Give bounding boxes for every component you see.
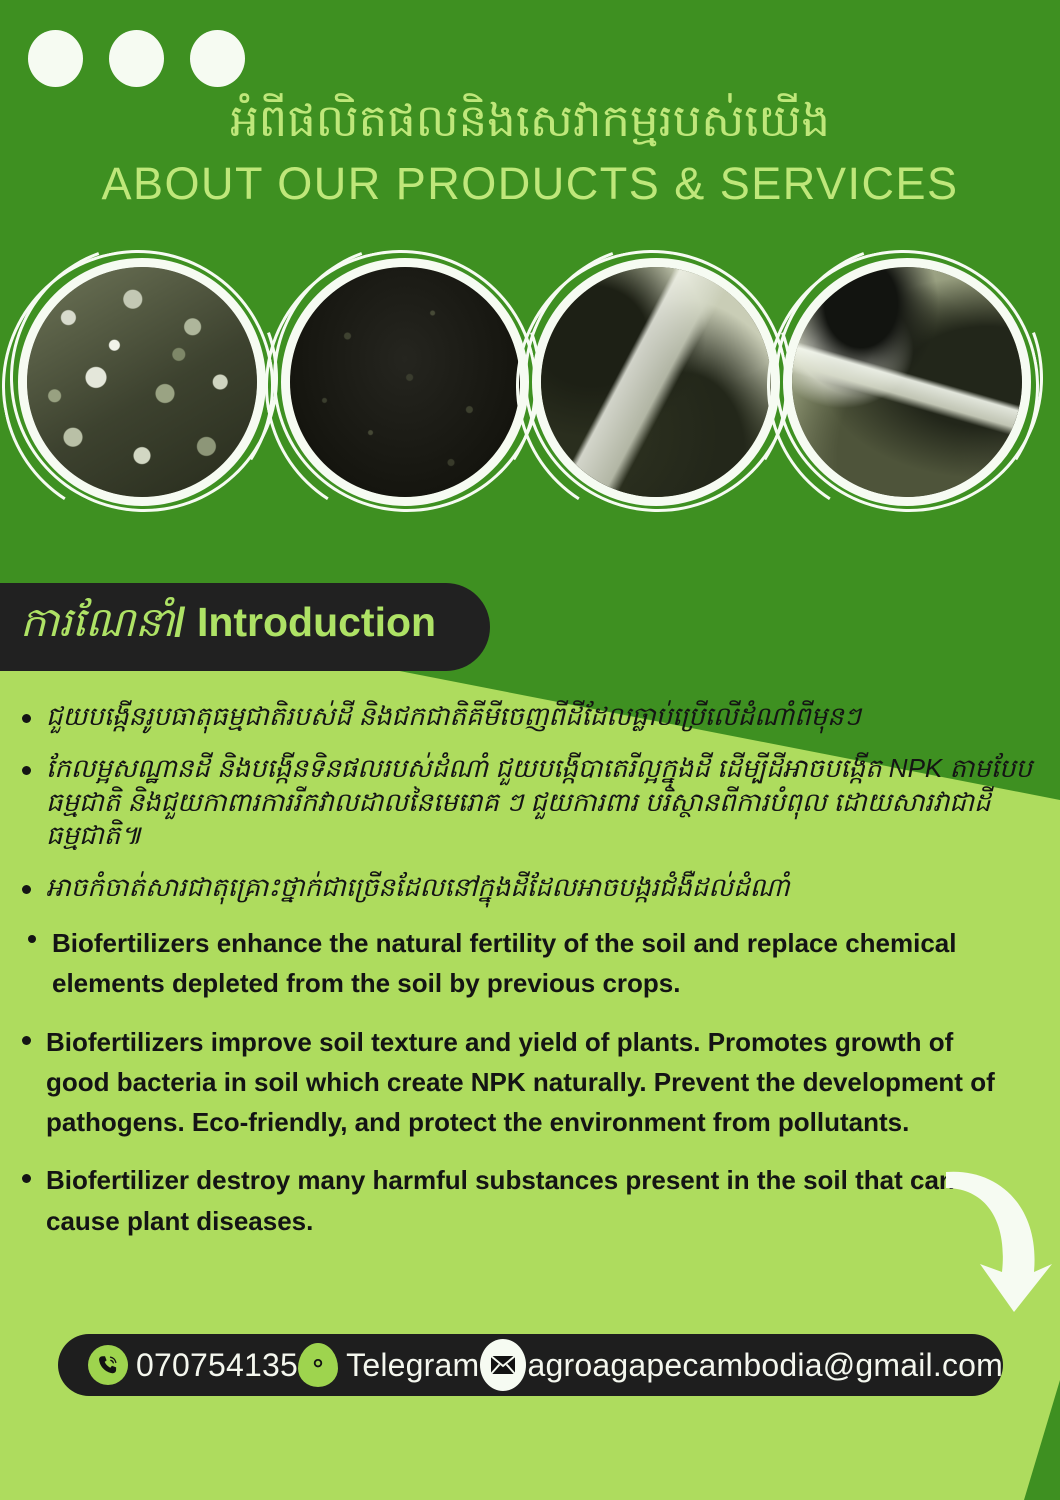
contact-email-label: agroagapecambodia@gmail.com	[528, 1347, 1003, 1384]
location-pin-icon	[298, 1343, 338, 1387]
page-header: អំពីផលិតផលនិងសេវាកម្មរបស់យើង ABOUT OUR P…	[0, 95, 1060, 206]
introduction-label-khmer: ការណែនាំ	[20, 599, 174, 645]
envelope-icon	[480, 1339, 526, 1391]
introduction-badge-label: ការណែនាំ/ Introduction	[20, 597, 436, 657]
curved-down-arrow-icon	[944, 1160, 1054, 1315]
page-title-english: ABOUT OUR PRODUCTS & SERVICES	[0, 161, 1060, 206]
list-item-english-2: Biofertilizers improve soil texture and …	[0, 1022, 1060, 1143]
poster-canvas: អំពីផលិតផលនិងសេវាកម្មរបស់យើង ABOUT OUR P…	[0, 0, 1060, 1500]
farmer-working-photo	[532, 258, 780, 506]
dot-2-icon	[109, 30, 164, 87]
contact-telegram[interactable]: Telegram	[298, 1343, 479, 1387]
contact-bar: 070754135 Telegram agroagapecambodia@gma…	[58, 1334, 1003, 1396]
gallery-item-compost	[18, 258, 280, 520]
contact-phone-label: 070754135	[136, 1347, 298, 1384]
introduction-content: ជួយបង្កើនរូបធាតុធម្មជាតិរបស់ដី និងជកជាតិ…	[0, 700, 1060, 1259]
introduction-section-badge: ការណែនាំ/ Introduction	[0, 583, 490, 671]
decorative-dots	[28, 30, 245, 87]
gallery-item-farmer	[532, 258, 794, 520]
gallery-item-cow	[783, 258, 1045, 520]
bullet-list: ជួយបង្កើនរូបធាតុធម្មជាតិរបស់ដី និងជកជាតិ…	[0, 700, 1060, 1241]
list-item-khmer-1: ជួយបង្កើនរូបធាតុធម្មជាតិរបស់ដី និងជកជាតិ…	[0, 700, 1060, 734]
phone-icon	[88, 1345, 128, 1385]
dot-3-icon	[190, 30, 245, 87]
list-item-khmer-3: អាចកំចាត់សារជាតុគ្រោះថ្នាក់ជាច្រើនដែលនៅក…	[0, 871, 1060, 905]
contact-phone[interactable]: 070754135	[88, 1345, 298, 1385]
list-item-english-1: Biofertilizers enhance the natural ferti…	[0, 923, 1060, 1004]
introduction-label-separator: /	[174, 599, 197, 645]
contact-telegram-label: Telegram	[346, 1347, 479, 1384]
compost-granules-photo	[18, 258, 266, 506]
page-title-khmer: អំពីផលិតផលនិងសេវាកម្មរបស់យើង	[0, 95, 1060, 147]
cow-and-manure-photo	[783, 258, 1031, 506]
list-item-english-3: Biofertilizer destroy many harmful subst…	[0, 1160, 1060, 1241]
dot-1-icon	[28, 30, 83, 87]
black-soil-photo	[281, 258, 529, 506]
photo-gallery	[0, 250, 1060, 540]
introduction-label-english: Introduction	[197, 599, 436, 645]
contact-email[interactable]: agroagapecambodia@gmail.com	[480, 1339, 1003, 1391]
list-item-khmer-2: កែលម្អសណ្ឋានដី និងបង្កើនទិនផលរបស់ដំណាំ ជ…	[0, 752, 1060, 853]
background-corner-accent	[1000, 1380, 1060, 1500]
gallery-item-soil	[281, 258, 543, 520]
